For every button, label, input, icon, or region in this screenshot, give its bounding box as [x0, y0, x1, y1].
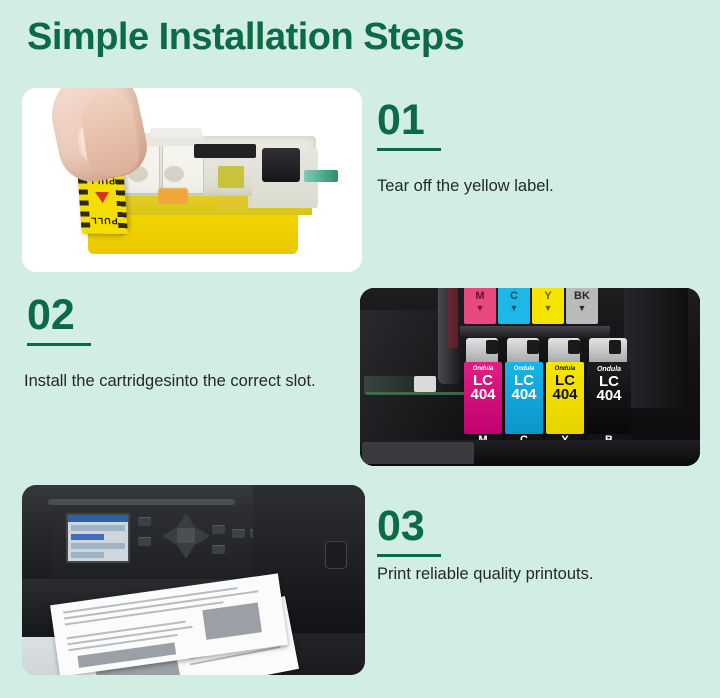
cartridge-clip	[548, 338, 580, 362]
cartridge-body: Ondula LC 404	[587, 362, 631, 434]
cartridge-pull-tab-photo: PULL PULL PULL	[22, 88, 362, 272]
slot-label-text: Y	[544, 291, 551, 302]
step-number-02: 02	[27, 294, 91, 346]
printer-output-photo: Start ◡	[22, 485, 365, 675]
slot-arrow-down-icon: ▼	[544, 304, 553, 313]
photo2-scene: M ▼ C ▼ Y ▼ BK ▼	[360, 288, 700, 466]
printer-floor-plate	[362, 442, 474, 464]
cartridge-clip	[589, 338, 627, 362]
slot-label-text: M	[475, 291, 484, 302]
minus-button[interactable]	[138, 537, 151, 546]
lcd-display	[66, 513, 130, 563]
step-number-03-text: 03	[377, 502, 425, 550]
slot-arrow-down-icon: ▼	[578, 304, 587, 313]
cartridge-body: Ondula LC 404	[505, 362, 543, 434]
step-number-02-text: 02	[27, 291, 75, 339]
slot-arrow-down-icon: ▼	[476, 304, 485, 313]
carriage-white-clip	[414, 376, 436, 392]
photo3-scene: Start ◡	[22, 485, 365, 675]
slot-label-text: C	[510, 291, 518, 302]
cartridge-clip	[507, 338, 539, 362]
step-description-03: Print reliable quality printouts.	[377, 563, 697, 585]
pull-arrow-down-icon	[95, 192, 110, 203]
cartridge-code: 404	[511, 388, 536, 402]
slot-arrow-down-icon: ▼	[510, 304, 519, 313]
lcd-row	[71, 525, 125, 531]
cartridge-clip-notch	[609, 340, 621, 354]
lcd-row	[71, 552, 104, 558]
step-description-02: Install the cartridgesinto the correct s…	[24, 370, 324, 392]
cartridge-clip-notch	[486, 340, 498, 354]
pull-label: PULL	[90, 216, 118, 226]
cartridge-orange-sponge	[158, 188, 188, 204]
fax-button[interactable]	[232, 529, 245, 538]
cartridge-black-block	[262, 148, 300, 182]
cartridge-clip-notch	[568, 340, 580, 354]
lcd-row-selected	[71, 534, 104, 540]
step-number-underline	[377, 554, 441, 557]
cartridge-body: Ondula LC 404	[546, 362, 584, 434]
page-title: Simple Installation Steps	[27, 16, 464, 59]
slot-label-magenta: M ▼	[464, 288, 496, 324]
carriage-rail-bar	[460, 326, 610, 338]
carriage-green-board	[366, 392, 472, 395]
step-number-underline	[377, 148, 441, 151]
carriage-red-strip	[448, 288, 458, 348]
cartridge-lip-top	[150, 128, 202, 138]
printer-cartridge-slots-photo: M ▼ C ▼ Y ▼ BK ▼	[360, 288, 700, 466]
step-number-underline	[27, 343, 91, 346]
paper-slot-grip[interactable]	[325, 541, 347, 569]
cartridge-black-bar	[194, 144, 256, 158]
cartridge-code: 404	[552, 388, 577, 402]
navigation-pad[interactable]	[162, 513, 210, 559]
infographic-page: Simple Installation Steps PU	[0, 0, 720, 698]
step-number-01-text: 01	[377, 96, 425, 144]
slot-label-strip: M ▼ C ▼ Y ▼ BK ▼	[464, 288, 600, 324]
slot-label-black: BK ▼	[566, 288, 598, 324]
plus-button[interactable]	[138, 517, 151, 526]
settings-button[interactable]	[212, 525, 225, 534]
cartridge-port	[164, 166, 184, 182]
step-number-01: 01	[377, 99, 441, 151]
lcd-row	[71, 543, 125, 549]
mode-button[interactable]	[212, 545, 225, 554]
photo1-scene: PULL PULL PULL	[22, 88, 362, 272]
cartridge-body: Ondula LC 404	[464, 362, 502, 434]
slot-label-text: BK	[574, 291, 590, 302]
cartridge-code: 404	[596, 389, 621, 403]
slot-label-cyan: C ▼	[498, 288, 530, 324]
slot-label-yellow: Y ▼	[532, 288, 564, 324]
cartridge-code: 404	[470, 388, 495, 402]
step-number-03: 03	[377, 505, 441, 557]
lcd-title-bar	[68, 515, 128, 522]
cartridge-chip	[304, 170, 338, 182]
cartridge-brand: Ondula	[597, 366, 621, 373]
ok-button[interactable]	[177, 528, 195, 543]
cartridge-clip	[466, 338, 498, 362]
cartridge-clip-notch	[527, 340, 539, 354]
step-description-01: Tear off the yellow label.	[377, 175, 677, 197]
cartridge-ink-window	[218, 166, 244, 188]
